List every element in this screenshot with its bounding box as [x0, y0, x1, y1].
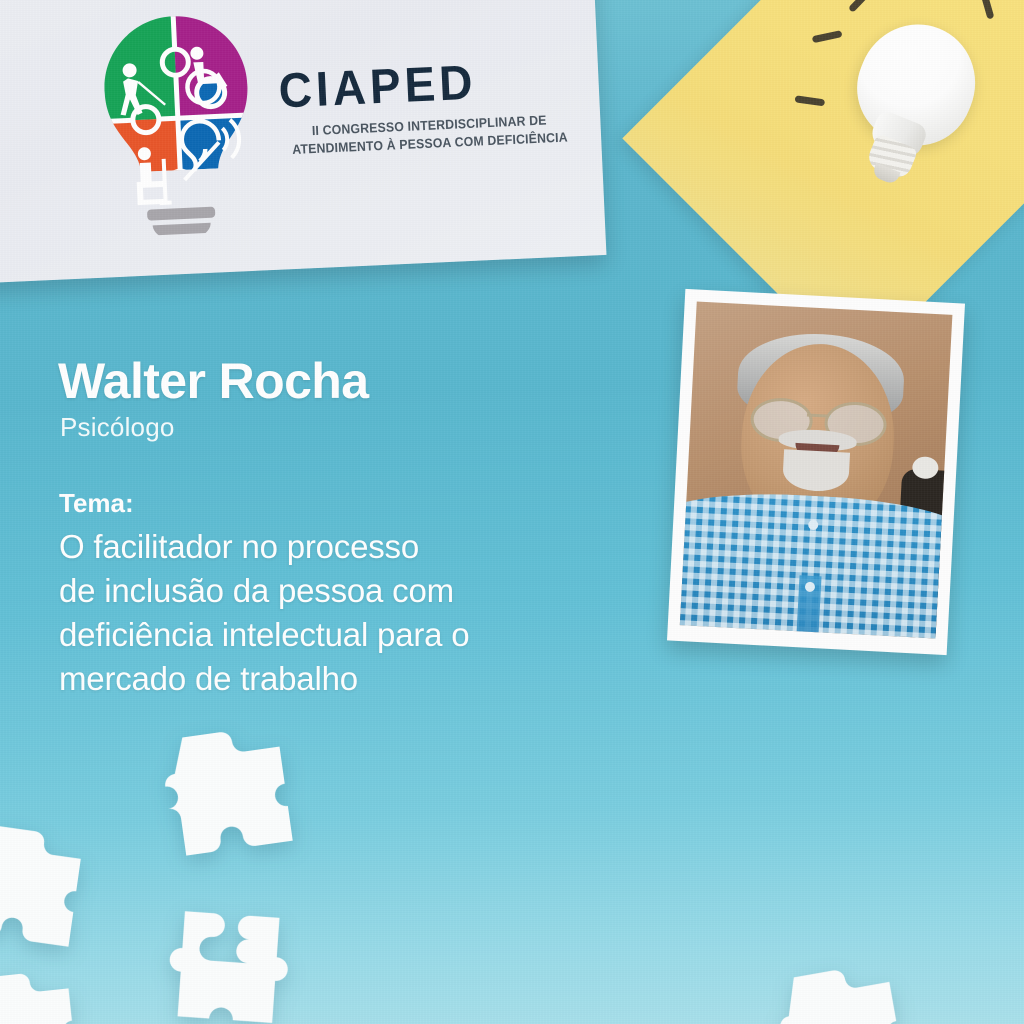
topic-line: de inclusão da pessoa com	[59, 569, 629, 613]
speaker-portrait	[680, 302, 953, 639]
topic-text: O facilitador no processo de inclusão da…	[59, 525, 629, 701]
topic-line: mercado de trabalho	[59, 657, 629, 701]
brand-wordmark: CIAPED	[278, 53, 580, 115]
lightbulb-puzzle-logo	[85, 8, 270, 238]
speaker-role: Psicólogo	[60, 412, 175, 443]
speaker-photo-frame	[667, 289, 965, 655]
speaker-announcement-poster: CIAPED II CONGRESSO INTERDISCIPLINAR DE …	[0, 0, 1024, 1024]
logo-card: CIAPED II CONGRESSO INTERDISCIPLINAR DE …	[0, 0, 606, 285]
topic-line: deficiência intelectual para o	[59, 613, 629, 657]
puzzle-piece-top-left	[140, 712, 311, 882]
puzzle-piece-bottom-center	[143, 891, 314, 1024]
topic-label: Tema:	[59, 488, 134, 519]
portrait-shirt	[680, 488, 953, 639]
puzzle-piece-bottom-left	[0, 954, 102, 1024]
speaker-name: Walter Rocha	[58, 352, 368, 410]
puzzle-piece-mid-left-edge	[0, 811, 113, 969]
puzzle-piece-bottom-right	[757, 946, 929, 1024]
topic-line: O facilitador no processo	[59, 525, 629, 569]
